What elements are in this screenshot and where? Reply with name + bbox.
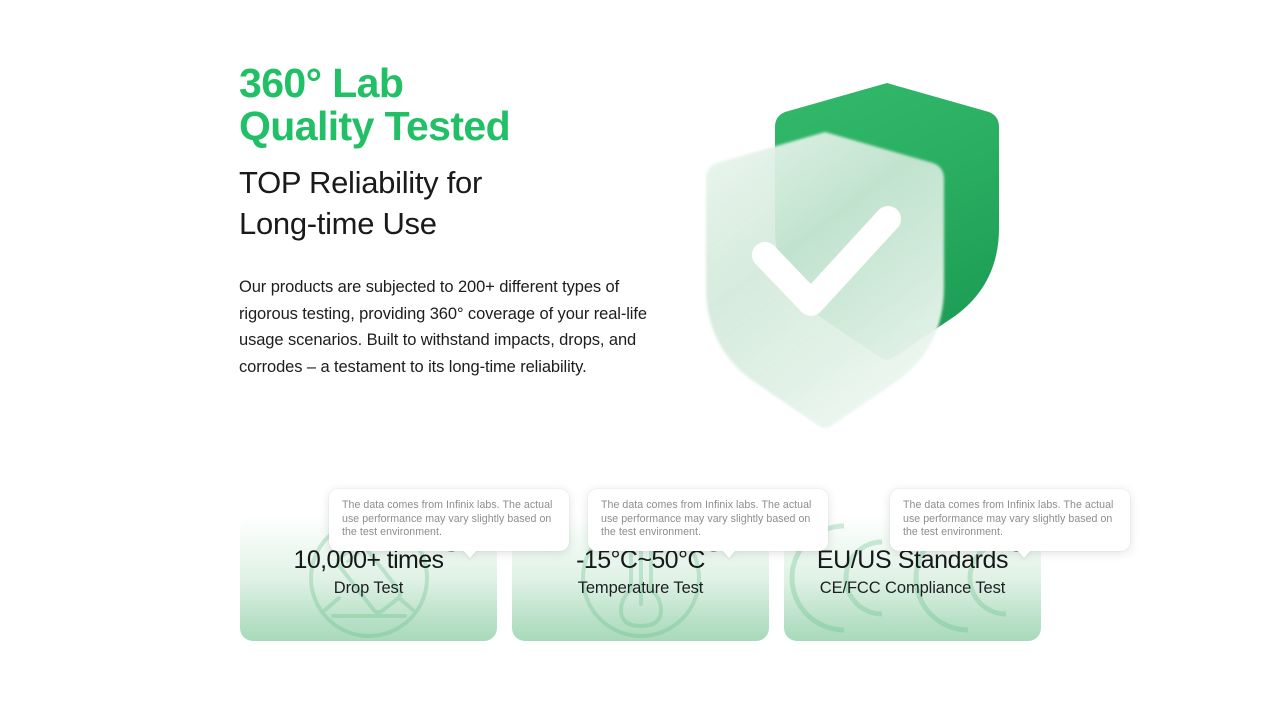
shield-check-icon xyxy=(693,60,1023,440)
stat-label: CE/FCC Compliance Test xyxy=(784,578,1041,599)
hero-copy: 360° Lab Quality Tested TOP Reliability … xyxy=(239,62,659,381)
stat-card-body: 10,000+ times i Drop Test xyxy=(240,545,497,599)
tooltip-eu-us-standards: The data comes from Infinix labs. The ac… xyxy=(890,489,1130,551)
promo-page: 360° Lab Quality Tested TOP Reliability … xyxy=(0,0,1280,707)
tooltip-temperature-test: The data comes from Infinix labs. The ac… xyxy=(588,489,828,551)
stat-label: Temperature Test xyxy=(512,578,769,599)
page-title: 360° Lab Quality Tested xyxy=(239,62,659,148)
stat-label: Drop Test xyxy=(240,578,497,599)
hero-description: Our products are subjected to 200+ diffe… xyxy=(239,274,659,381)
stat-card-body: EU/US Standards i CE/FCC Compliance Test xyxy=(784,545,1041,599)
tooltip-drop-test: The data comes from Infinix labs. The ac… xyxy=(329,489,569,551)
page-subtitle: TOP Reliability for Long-time Use xyxy=(239,162,659,244)
